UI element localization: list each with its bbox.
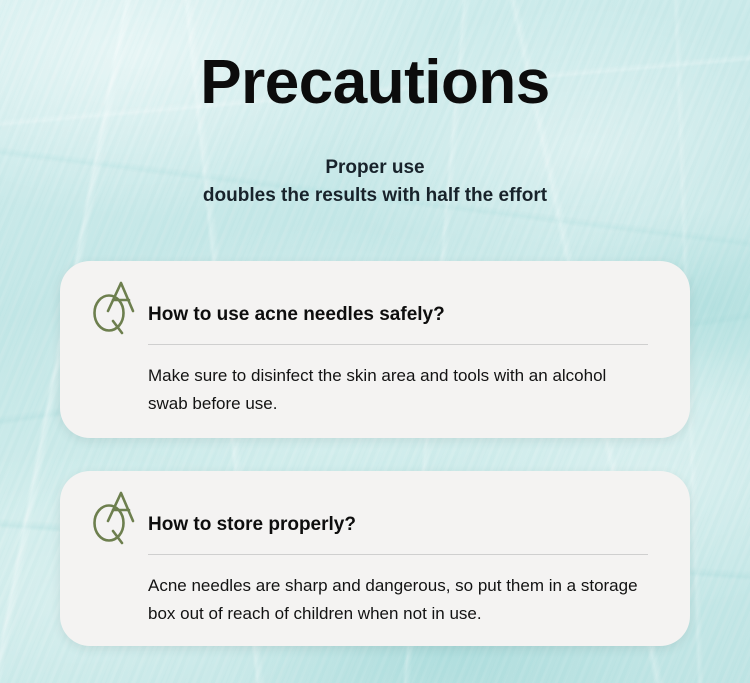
faq-card-body: How to use acne needles safely? Make sur… (148, 261, 648, 438)
faq-divider (148, 344, 648, 345)
faq-card[interactable]: How to use acne needles safely? Make sur… (60, 261, 690, 438)
page-subtitle: Proper use doubles the results with half… (0, 154, 750, 210)
page-title: Precautions (0, 52, 750, 114)
faq-question: How to use acne needles safely? (148, 303, 445, 327)
subtitle-line-1: Proper use (0, 154, 750, 182)
precautions-page: Precautions Proper use doubles the resul… (0, 0, 750, 683)
faq-question: How to store properly? (148, 513, 356, 537)
faq-answer: Acne needles are sharp and dangerous, so… (148, 572, 648, 628)
subtitle-line-2: doubles the results with half the effort (0, 182, 750, 210)
faq-card-body: How to store properly? Acne needles are … (148, 471, 648, 646)
faq-divider (148, 554, 648, 555)
qa-monogram-icon (89, 490, 141, 546)
faq-card[interactable]: How to store properly? Acne needles are … (60, 471, 690, 646)
faq-answer: Make sure to disinfect the skin area and… (148, 362, 648, 418)
qa-monogram-icon (89, 280, 141, 336)
